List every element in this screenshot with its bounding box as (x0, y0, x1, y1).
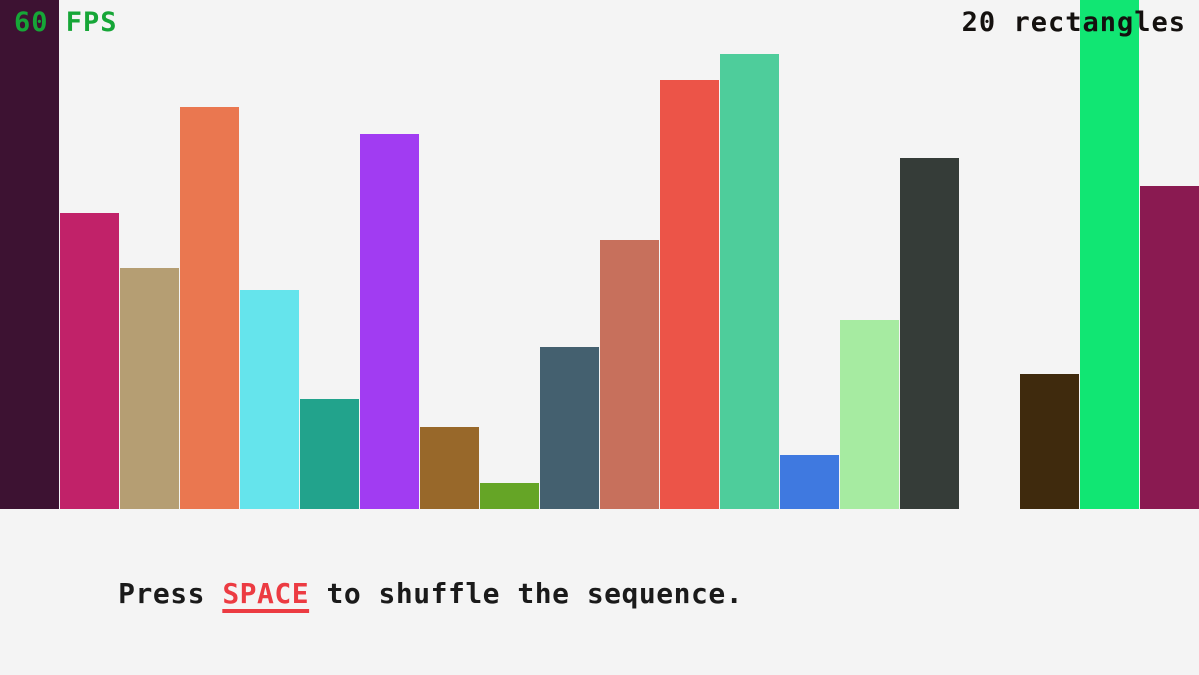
fps-counter: 60 FPS (14, 9, 118, 36)
bar-19-bright-green (1080, 0, 1139, 509)
bar-14-blue (780, 455, 839, 509)
instruction-line-add: Press UP to add a rectangle and generate… (14, 666, 1199, 675)
instruction-prefix: Press (118, 577, 222, 610)
bar-18-dark-brown (1020, 374, 1079, 509)
bar-20-dark-maroon (1140, 186, 1199, 509)
bar-15-light-green (840, 320, 899, 509)
bar-8-ochre (420, 427, 479, 509)
bar-5-cyan (240, 290, 299, 509)
key-space[interactable]: SPACE (222, 577, 309, 610)
bar-1-dark-plum (0, 0, 59, 509)
bar-4-orange (180, 107, 239, 509)
bar-13-mint (720, 54, 779, 509)
bar-12-red (660, 80, 719, 509)
bar-chart (0, 0, 1199, 509)
instruction-line-shuffle: Press SPACE to shuffle the sequence. (14, 522, 1199, 666)
bar-2-magenta (60, 213, 119, 509)
bar-16-charcoal (900, 158, 959, 509)
bar-10-slate-blue (540, 347, 599, 509)
bar-9-olive-green (480, 483, 539, 509)
bar-6-teal (300, 399, 359, 509)
instruction-suffix: to shuffle the sequence. (309, 577, 743, 610)
bar-3-tan (120, 268, 179, 509)
rectangle-visualizer-canvas: 60 FPS 20 rectangles Press SPACE to shuf… (0, 0, 1199, 675)
bar-7-purple (360, 134, 419, 509)
bar-11-terracotta (600, 240, 659, 509)
rectangle-count-label: 20 rectangles (962, 9, 1186, 36)
instructions-panel: Press SPACE to shuffle the sequence. Pre… (0, 509, 1199, 675)
